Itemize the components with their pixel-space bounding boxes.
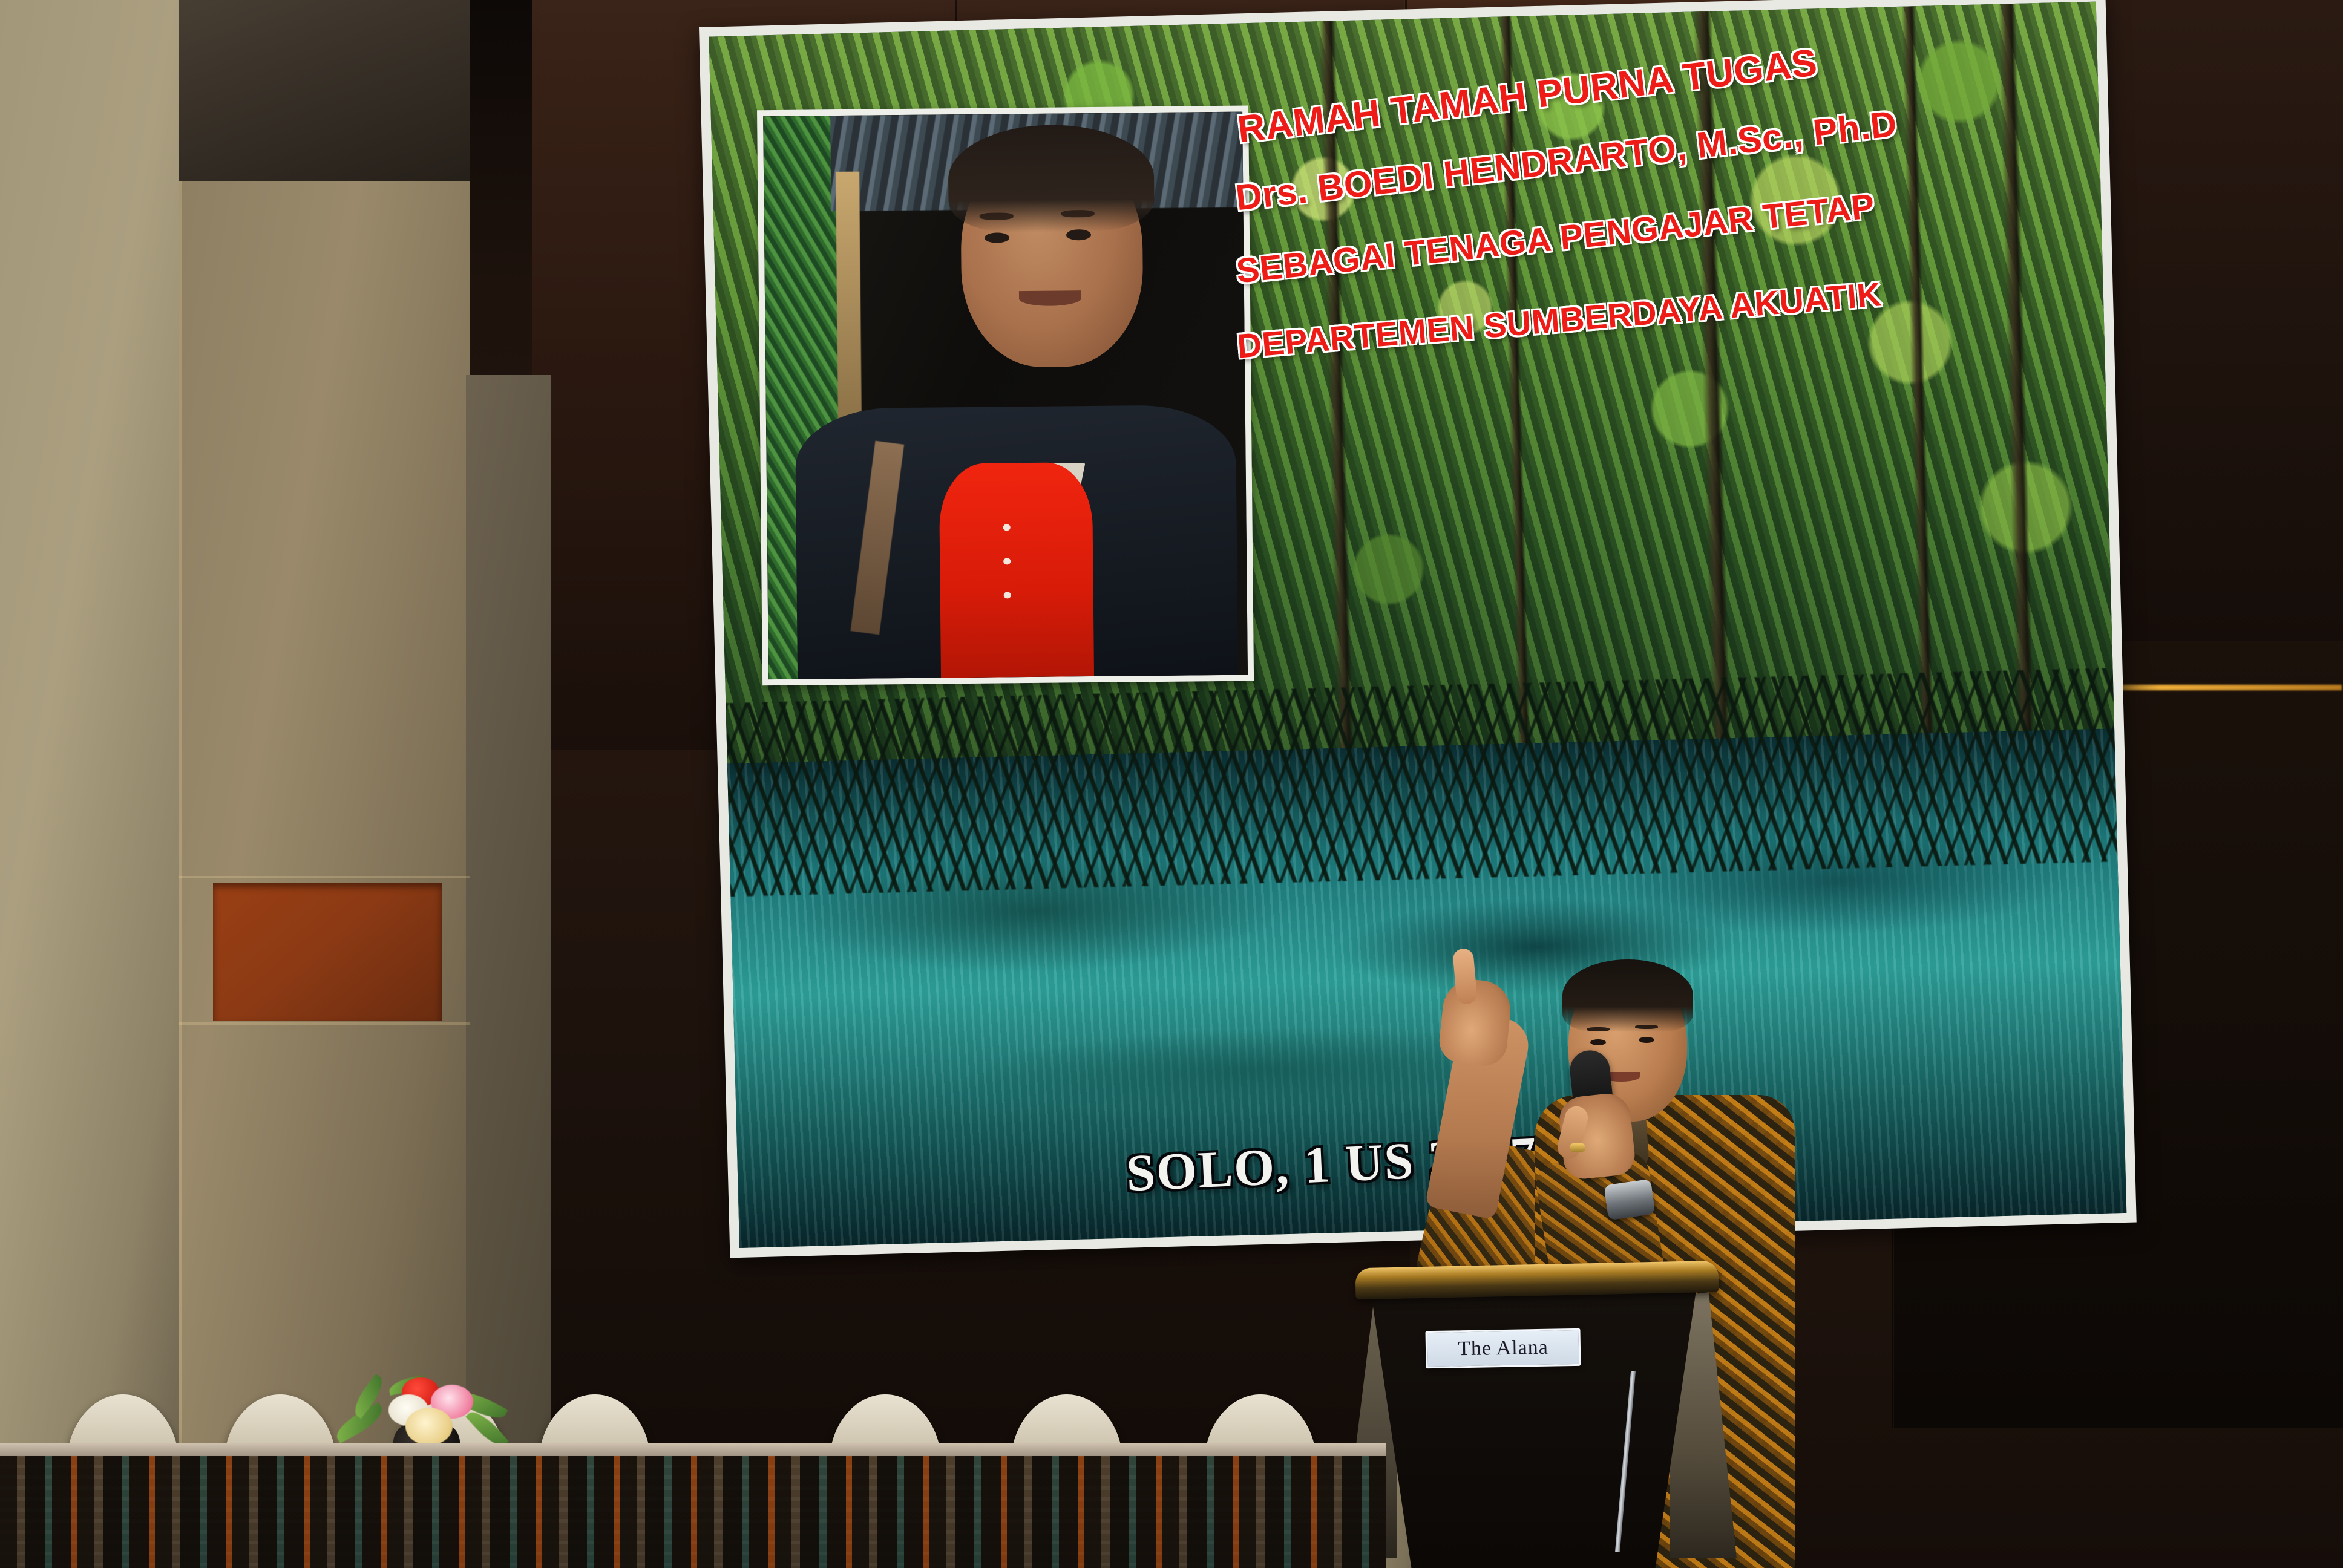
wall-recess-top <box>179 0 470 194</box>
podium-nameplate-text: The Alana <box>1458 1336 1548 1361</box>
portrait-red-polo <box>939 463 1094 678</box>
speaker-eye-left <box>1590 1039 1606 1045</box>
head-table <box>0 1443 1386 1568</box>
wall-accent-panel <box>213 883 442 1021</box>
honoree-portrait <box>757 106 1254 686</box>
wall-grout-h1 <box>179 876 470 878</box>
honoree-portrait-image <box>763 112 1248 680</box>
banner-mangrove-roots <box>726 668 2117 897</box>
portrait-hair <box>948 124 1155 233</box>
portrait-polo-button-3 <box>1003 592 1011 598</box>
photo-scene: RAMAH TAMAH PURNA TUGAS Drs. BOEDI HENDR… <box>0 0 2343 1568</box>
speaker-hair <box>1562 959 1693 1032</box>
wall-column-left-outer <box>0 0 182 1452</box>
portrait-eye-right <box>1066 229 1091 240</box>
wall-column-left-inner <box>179 181 470 1452</box>
portrait-brow-left <box>980 212 1014 220</box>
speaker-brow-left <box>1587 1027 1610 1031</box>
table-top-edge <box>0 1443 1386 1457</box>
speaker-eye-right <box>1639 1037 1654 1043</box>
speaker-ring <box>1570 1143 1585 1152</box>
speaker-brow-right <box>1635 1025 1658 1029</box>
wall-grout-v1 <box>179 181 182 1452</box>
flower-bloom-cream <box>405 1408 453 1445</box>
wall-column-left-mid <box>466 375 551 1452</box>
wall-grout-h2 <box>179 1022 470 1025</box>
table-skirt-batik <box>0 1456 1386 1568</box>
speaker-pointing-finger <box>1452 948 1478 1005</box>
speaker-wristwatch-upper <box>1604 1179 1655 1220</box>
banner-headline-block: RAMAH TAMAH PURNA TUGAS Drs. BOEDI HENDR… <box>1231 87 2084 366</box>
podium-nameplate: The Alana <box>1425 1328 1581 1368</box>
podium: The Alana <box>1355 1264 1731 1568</box>
portrait-wooden-post <box>836 172 862 431</box>
